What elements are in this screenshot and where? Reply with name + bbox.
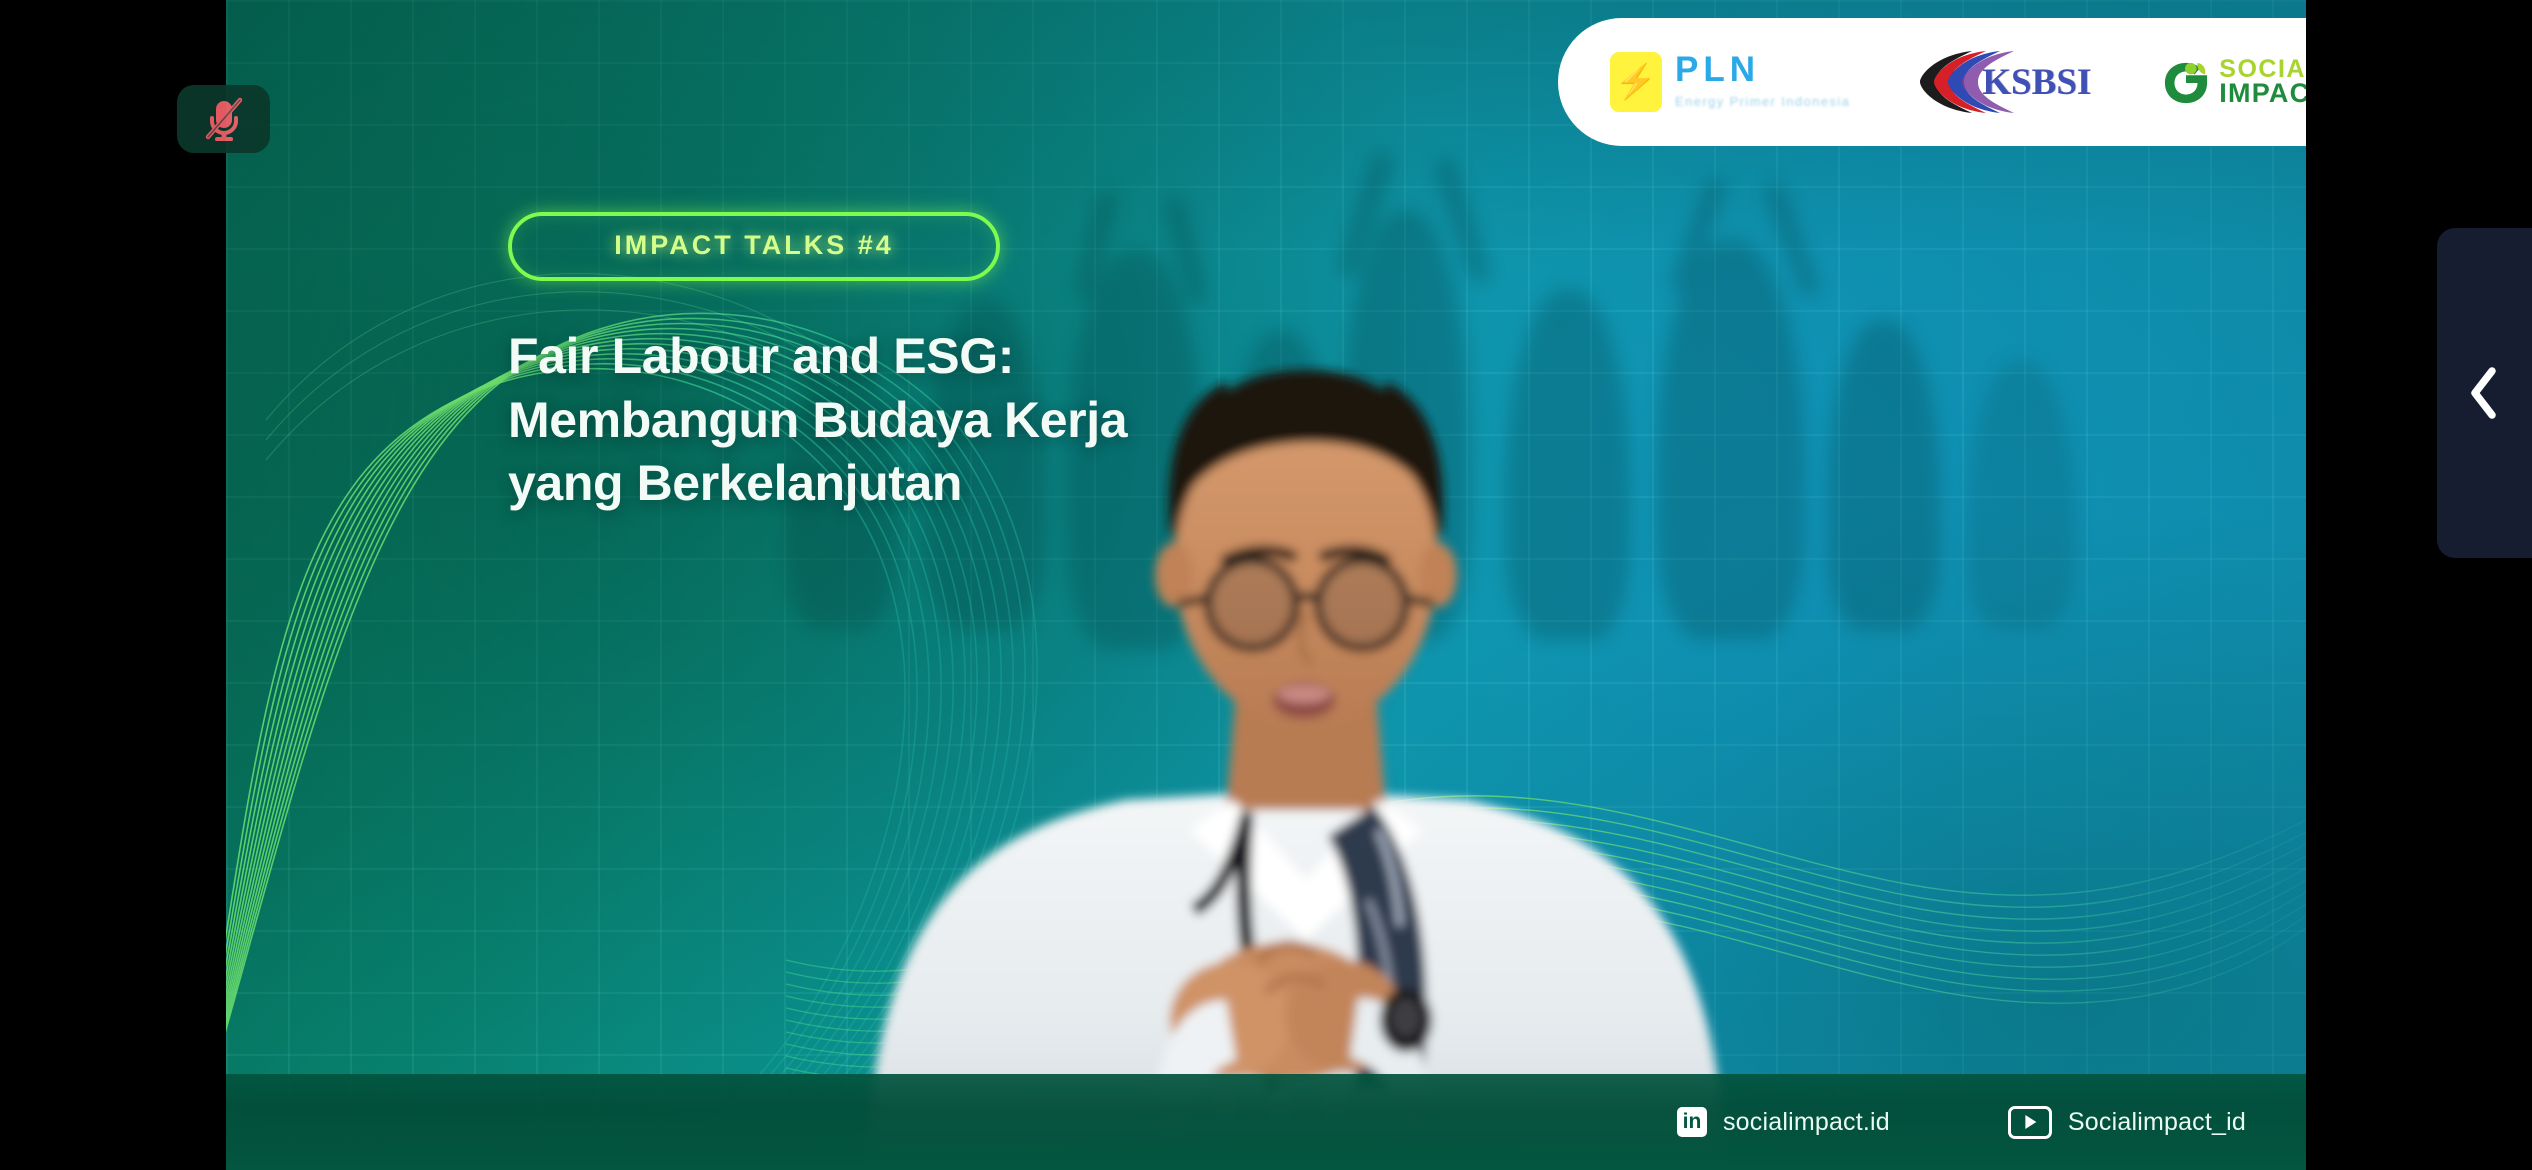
pln-logo: ⚡ PLN Energy Primer Indonesia	[1610, 52, 1850, 112]
title-line-1: Fair Labour and ESG:	[508, 325, 1508, 389]
slide-title-block: IMPACT TALKS #4 Fair Labour and ESG: Mem…	[508, 212, 1508, 516]
youtube-handle: Socialimpact_id	[2068, 1108, 2246, 1137]
youtube-handle-group: Socialimpact_id	[2008, 1106, 2246, 1139]
microphone-muted-icon	[204, 97, 244, 141]
youtube-icon	[2008, 1106, 2052, 1139]
social-impact-line2: IMPACT.	[2219, 81, 2306, 106]
leaf-person-icon	[2163, 59, 2209, 105]
linkedin-icon	[1677, 1107, 1707, 1137]
social-impact-id-logo: SOCIAL IMPACT. ID	[2163, 58, 2306, 106]
linkedin-handle-group: socialimpact.id	[1677, 1107, 1890, 1137]
screen-root: ⚡ PLN Energy Primer Indonesia KSBSI	[0, 0, 2532, 1170]
sidebar-expand-toggle[interactable]	[2437, 228, 2532, 558]
mic-muted-indicator[interactable]	[177, 85, 270, 153]
ksbsi-logo: KSBSI	[1920, 49, 2091, 115]
video-tile[interactable]: ⚡ PLN Energy Primer Indonesia KSBSI	[226, 0, 2306, 1170]
chevron-left-icon	[2468, 365, 2502, 421]
presenter-video-figure	[226, 0, 2306, 1170]
page-title: Fair Labour and ESG: Membangun Budaya Ke…	[508, 325, 1508, 516]
ksbsi-wordmark: KSBSI	[1982, 61, 2091, 104]
slide-footer-band: socialimpact.id Socialimpact_id	[226, 1074, 2306, 1170]
pln-wordmark: PLN	[1675, 52, 1850, 87]
status-badge: IMPACT TALKS #4	[508, 212, 1000, 281]
linkedin-handle: socialimpact.id	[1723, 1108, 1890, 1137]
title-line-3: yang Berkelanjutan	[508, 452, 1508, 516]
lightning-bolt-icon: ⚡	[1610, 52, 1662, 112]
pln-tagline: Energy Primer Indonesia	[1675, 93, 1850, 112]
title-line-2: Membangun Budaya Kerja	[508, 389, 1508, 453]
sponsor-logo-bar: ⚡ PLN Energy Primer Indonesia KSBSI	[1558, 18, 2306, 146]
